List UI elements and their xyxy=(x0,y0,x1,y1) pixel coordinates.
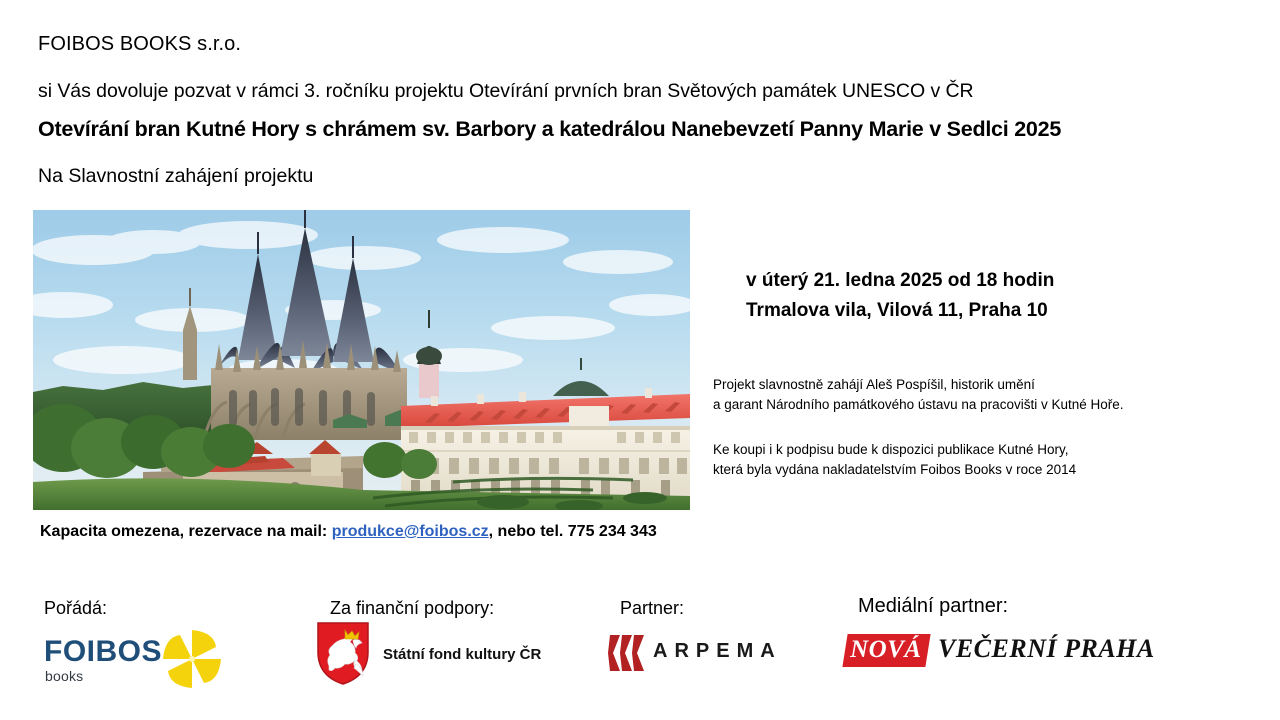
nova-badge-text: NOVÁ xyxy=(850,636,921,664)
reservation-suffix: , nebo tel. 775 234 343 xyxy=(489,523,657,540)
label-partner: Partner: xyxy=(620,598,684,619)
event-note-publication: Ke koupi i k podpisu bude k dispozici pu… xyxy=(713,440,1076,480)
foibos-subword: books xyxy=(45,668,83,684)
kutna-hora-photo xyxy=(33,210,690,510)
event-note-speaker: Projekt slavnostně zahájí Aleš Pospíšil,… xyxy=(713,375,1124,415)
czech-lion-shield-icon xyxy=(315,673,371,690)
event-location: Trmalova vila, Vilová 11, Praha 10 xyxy=(746,300,1048,322)
pinwheel-icon xyxy=(158,628,226,695)
arpema-wordmark: ARPEMA xyxy=(653,640,782,663)
reservation-email-link[interactable]: produkce@foibos.cz xyxy=(332,523,489,540)
note-speaker-line-2: a garant Národního památkového ústavu na… xyxy=(713,395,1124,415)
company-name: FOIBOS BOOKS s.r.o. xyxy=(38,33,241,56)
subtitle: Na Slavnostní zahájení projektu xyxy=(38,165,313,188)
label-media-partner: Mediální partner: xyxy=(858,595,1008,618)
reservation-line: Kapacita omezena, rezervace na mail: pro… xyxy=(40,523,657,541)
event-datetime: v úterý 21. ledna 2025 od 18 hodin xyxy=(746,270,1054,292)
invitation-line: si Vás dovoluje pozvat v rámci 3. ročník… xyxy=(38,80,974,103)
state-fund-label: Státní fond kultury ČR xyxy=(383,646,541,663)
logo-nova-vecerni-praha[interactable]: NOVÁ VEČERNÍ PRAHA xyxy=(845,634,1105,670)
label-organizer: Pořádá: xyxy=(44,598,107,619)
page-title: Otevírání bran Kutné Hory s chrámem sv. … xyxy=(38,117,1061,142)
note-publication-line-2: která byla vydána nakladatelstvím Foibos… xyxy=(713,460,1076,480)
foibos-wordmark: FOIBOS xyxy=(44,635,162,669)
vecerni-praha-wordmark: VEČERNÍ PRAHA xyxy=(938,634,1155,664)
note-speaker-line-1: Projekt slavnostně zahájí Aleš Pospíšil,… xyxy=(713,375,1124,395)
nova-badge: NOVÁ xyxy=(842,634,931,667)
note-publication-line-1: Ke koupi i k podpisu bude k dispozici pu… xyxy=(713,440,1076,460)
reservation-prefix: Kapacita omezena, rezervace na mail: xyxy=(40,523,332,540)
logo-foibos-books[interactable]: FOIBOS books xyxy=(40,628,230,690)
label-funding: Za finanční podpory: xyxy=(330,598,494,619)
logo-arpema[interactable]: ARPEMA xyxy=(608,634,768,674)
logo-state-culture-fund[interactable]: Státní fond kultury ČR xyxy=(315,620,545,692)
arpema-m-icon xyxy=(608,659,650,676)
